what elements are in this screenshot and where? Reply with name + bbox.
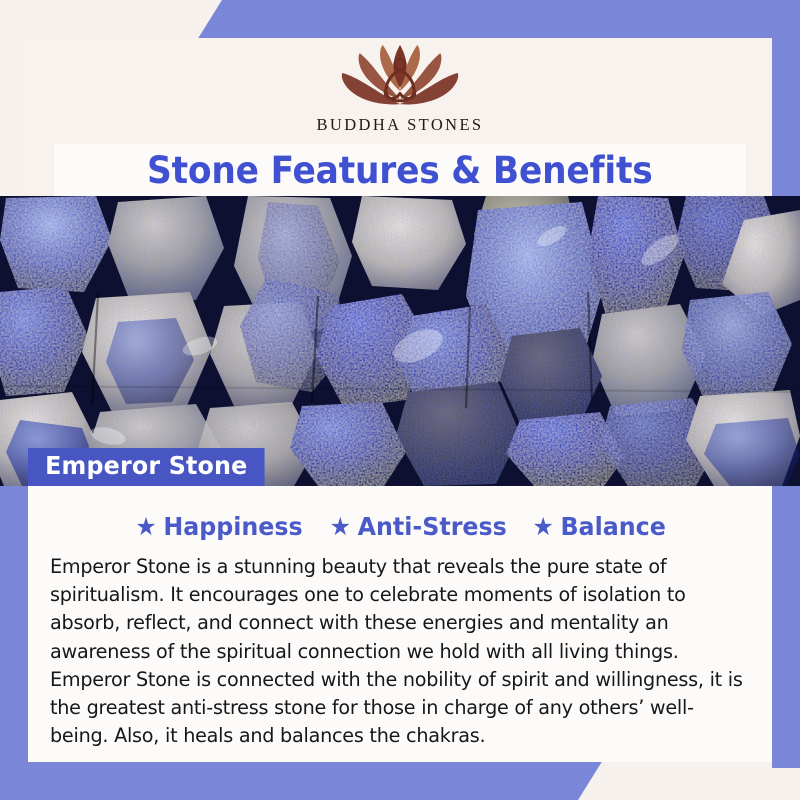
- benefit-label: Happiness: [163, 512, 302, 541]
- stone-label-tag: Emperor Stone: [28, 448, 265, 486]
- description-paragraph-1: Emperor Stone is a stunning beauty that …: [50, 553, 750, 666]
- brand-name: BUDDHA STONES: [316, 115, 483, 135]
- benefit-item-happiness: ★ Happiness: [135, 512, 302, 541]
- star-icon: ★: [533, 514, 554, 539]
- lotus-meditation-icon: [314, 40, 486, 114]
- description-panel: ★ Happiness ★ Anti-Stress ★ Balance Empe…: [28, 486, 772, 762]
- benefit-label: Balance: [561, 512, 666, 541]
- brand-logo: BUDDHA STONES: [28, 38, 772, 144]
- lapis-lazuli-stones-illustration: [0, 196, 800, 486]
- description-paragraph-2: Emperor Stone is connected with the nobi…: [50, 666, 750, 751]
- page-title: Stone Features & Benefits: [147, 152, 653, 189]
- benefit-item-balance: ★ Balance: [533, 512, 666, 541]
- title-band: Stone Features & Benefits: [54, 144, 746, 196]
- description-text: Emperor Stone is a stunning beauty that …: [42, 553, 758, 751]
- hero-image: Emperor Stone: [0, 196, 800, 486]
- benefit-label: Anti-Stress: [357, 512, 506, 541]
- star-icon: ★: [135, 514, 156, 539]
- content-card: BUDDHA STONES Stone Features & Benefits: [28, 38, 772, 762]
- star-icon: ★: [329, 514, 350, 539]
- frame-left-band: [0, 485, 28, 800]
- benefit-item-anti-stress: ★ Anti-Stress: [329, 512, 506, 541]
- benefits-list: ★ Happiness ★ Anti-Stress ★ Balance: [42, 512, 758, 541]
